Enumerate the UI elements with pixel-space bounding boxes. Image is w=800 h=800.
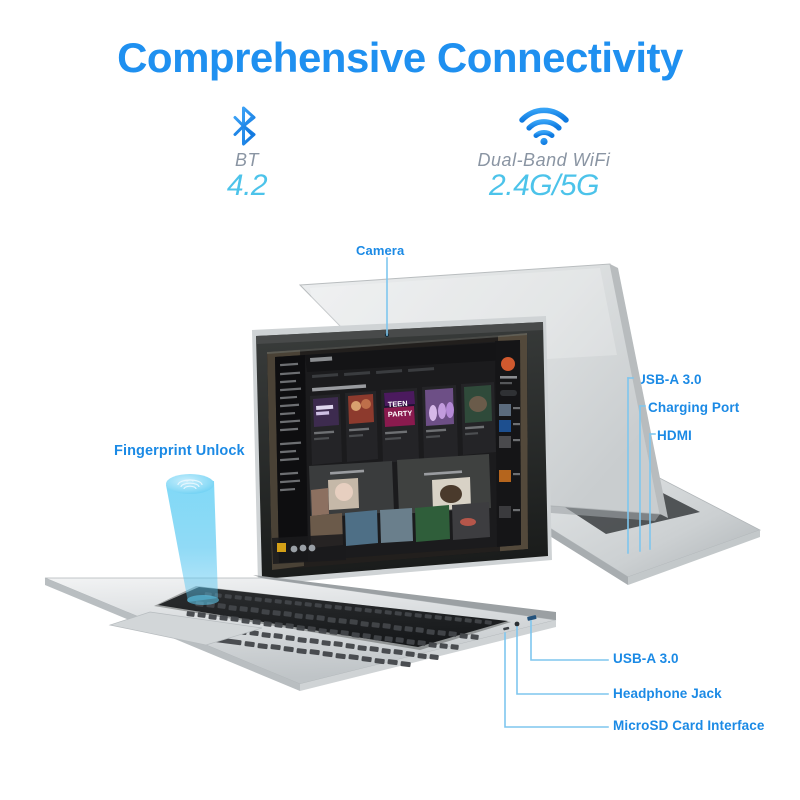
page-title: Comprehensive Connectivity <box>0 34 800 82</box>
fingerprint-icon <box>178 480 202 489</box>
callout-camera: Camera <box>356 243 404 258</box>
leader-headphone <box>517 627 608 694</box>
svg-text:TEEN: TEEN <box>388 399 408 409</box>
callout-charging-port: Charging Port <box>648 400 739 415</box>
screen-sidebar-items <box>280 363 301 491</box>
product-feature-graphic: TEEN PARTY <box>0 0 800 800</box>
callout-usb-a-rear: USB-A 3.0 <box>636 372 702 387</box>
leader-microsd <box>505 633 608 727</box>
leader-usba-front <box>531 621 608 660</box>
bluetooth-icon <box>137 104 357 148</box>
spec-wifi-name: Dual-Band WiFi <box>434 150 654 171</box>
screen-content: TEEN PARTY <box>267 333 528 570</box>
svg-text:PARTY: PARTY <box>388 409 413 419</box>
fingerprint-beam <box>166 474 219 605</box>
spec-bluetooth: BT 4.2 <box>137 104 357 203</box>
front-laptop: TEEN PARTY <box>45 316 556 691</box>
spec-wifi-value: 2.4G/5G <box>434 169 654 203</box>
screen-album-cards: TEEN PARTY <box>310 382 496 465</box>
spec-wifi: Dual-Band WiFi 2.4G/5G <box>434 104 654 203</box>
wifi-icon <box>434 104 654 148</box>
keyboard-keys <box>168 592 492 667</box>
trackpad <box>110 612 262 645</box>
callout-usb-a-front: USB-A 3.0 <box>613 651 679 666</box>
rear-laptop <box>300 264 760 585</box>
webcam-lens <box>385 333 389 337</box>
spec-bluetooth-name: BT <box>137 150 357 171</box>
callout-microsd-card-interface: MicroSD Card Interface <box>613 718 765 733</box>
callout-hdmi: HDMI <box>657 428 692 443</box>
callout-headphone-jack: Headphone Jack <box>613 686 722 701</box>
callout-fingerprint-unlock: Fingerprint Unlock <box>114 443 245 459</box>
front-laptop-ports <box>503 615 537 631</box>
spec-bluetooth-value: 4.2 <box>137 169 357 203</box>
